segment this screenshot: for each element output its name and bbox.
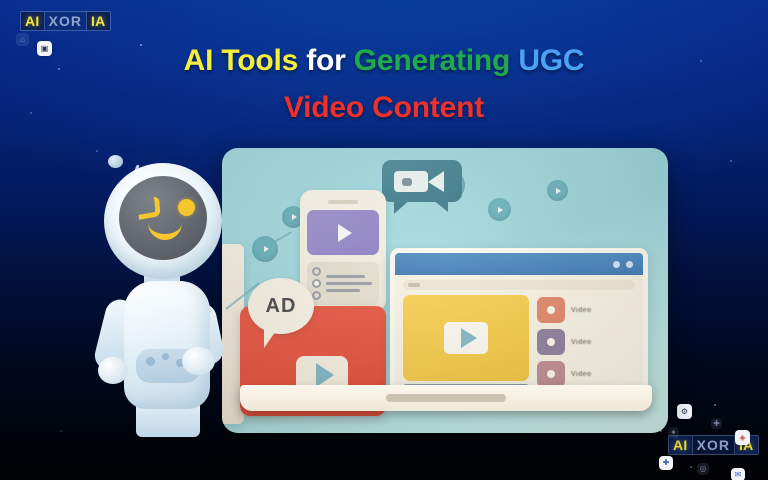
play-dot-icon (547, 370, 555, 378)
star-speck (730, 160, 732, 162)
settings-icon-glyph: ⚙ (681, 408, 688, 416)
address-bar[interactable] (403, 280, 635, 290)
antenna-ball (108, 155, 123, 168)
brand-left-text: AI (21, 12, 44, 30)
title-line-2: Video Content (0, 93, 768, 123)
robot-left-hand (98, 357, 128, 384)
photos-icon[interactable]: ◈ (735, 430, 750, 445)
brand-right-text: IA (87, 12, 110, 30)
video-canvas[interactable] (403, 295, 529, 381)
plus-icon[interactable]: ✚ (711, 418, 722, 429)
video-camera-tip (428, 171, 444, 192)
robot-right-hand (182, 347, 215, 375)
astronaut-robot-mascot (86, 143, 246, 433)
ad-badge-bubble: AD (248, 278, 314, 334)
phone-mockup (300, 190, 386, 312)
play-icon (498, 207, 503, 213)
brand-middle-text: XOR (44, 12, 87, 30)
play-button-float[interactable] (488, 198, 511, 221)
play-dot-icon (547, 306, 555, 314)
playlist-item-label: Video (571, 339, 591, 346)
mail-icon[interactable]: ✉ (731, 468, 745, 480)
mail-icon-glyph: ✉ (735, 471, 742, 479)
playlist-item-label: Video (571, 307, 591, 314)
playlist-thumbnail (537, 361, 565, 387)
video-playlist: Video Video Video (537, 295, 635, 394)
video-camera-lens (402, 178, 412, 186)
add-icon[interactable]: ✚ (659, 456, 673, 470)
title-word-ugc: UGC (518, 44, 584, 77)
ad-badge-text: AD (266, 295, 297, 318)
robot-belt-dot (162, 353, 169, 360)
list-bullet-icon (312, 291, 321, 300)
phone-list-bars (326, 267, 374, 300)
playlist-item[interactable]: Video (537, 329, 635, 355)
title-word-video-content: Video Content (284, 91, 484, 124)
globe-icon[interactable]: ◎ (697, 463, 709, 475)
list-bullet-icon (312, 279, 321, 288)
photos-icon-glyph: ◈ (739, 434, 745, 442)
window-dot[interactable] (626, 261, 633, 268)
play-icon (461, 328, 477, 348)
bubble-tail (264, 328, 278, 348)
playlist-item[interactable]: Video (537, 361, 635, 387)
robot-eye-round (178, 199, 195, 216)
play-dot-icon (547, 338, 555, 346)
list-text-bar (326, 275, 365, 278)
phone-speaker (328, 200, 358, 204)
play-icon (264, 246, 269, 252)
playlist-item-label: Video (571, 371, 591, 378)
play-icon (556, 188, 561, 194)
slide-canvas: AI XOR IA AI XOR IA ⌂ ▣ ⚙ ✚ ◈ ✦ ✚ ◎ ✉ AI… (0, 0, 768, 480)
title-word-ai-tools: AI Tools (184, 44, 299, 77)
home-icon-glyph: ⌂ (20, 36, 25, 44)
add-icon-glyph: ✚ (663, 459, 670, 467)
settings-icon[interactable]: ⚙ (677, 404, 692, 419)
video-chat-bubble (382, 160, 462, 214)
phone-list (307, 262, 379, 305)
list-text-bar (326, 282, 372, 285)
play-button-node[interactable] (252, 236, 278, 262)
play-icon (338, 224, 352, 242)
home-icon[interactable]: ⌂ (16, 33, 29, 46)
play-button-float[interactable] (547, 180, 568, 201)
robot-visor (119, 176, 207, 260)
compass-icon-glyph: ✦ (670, 429, 677, 437)
play-icon (292, 214, 297, 220)
window-dot[interactable] (613, 261, 620, 268)
playlist-thumbnail (537, 297, 565, 323)
browser-url-row (395, 275, 643, 295)
trackpad-notch (386, 394, 506, 402)
playlist-item[interactable]: Video (537, 297, 635, 323)
brand-logo-top: AI XOR IA (20, 11, 111, 31)
robot-belt-dot (146, 357, 155, 366)
plus-icon-glyph: ✚ (713, 420, 720, 428)
compass-icon[interactable]: ✦ (668, 427, 679, 438)
brand-left-text: AI (669, 436, 692, 454)
robot-torso (124, 281, 210, 409)
phone-list-icons (312, 267, 321, 300)
globe-icon-glyph: ◎ (700, 465, 707, 473)
phone-video-thumbnail[interactable] (307, 210, 379, 255)
video-play-button[interactable] (444, 322, 488, 354)
brand-middle-text: XOR (692, 436, 735, 454)
star-speck (714, 404, 716, 406)
browser-titlebar (395, 253, 643, 275)
playlist-thumbnail (537, 329, 565, 355)
list-text-bar (326, 289, 360, 292)
video-player (403, 295, 529, 394)
laptop-base (240, 385, 652, 411)
star-speck (60, 430, 62, 432)
title-word-for: for (306, 44, 345, 77)
title-line-1: AI Tools for Generating UGC (184, 44, 585, 77)
title-word-generating: Generating (354, 44, 510, 77)
star-speck (690, 466, 692, 468)
page-title: AI Tools for Generating UGC Video Conten… (0, 46, 768, 123)
browser-window-mockup: Video Video Video (390, 248, 648, 406)
play-icon (316, 363, 334, 387)
list-bullet-icon (312, 267, 321, 276)
